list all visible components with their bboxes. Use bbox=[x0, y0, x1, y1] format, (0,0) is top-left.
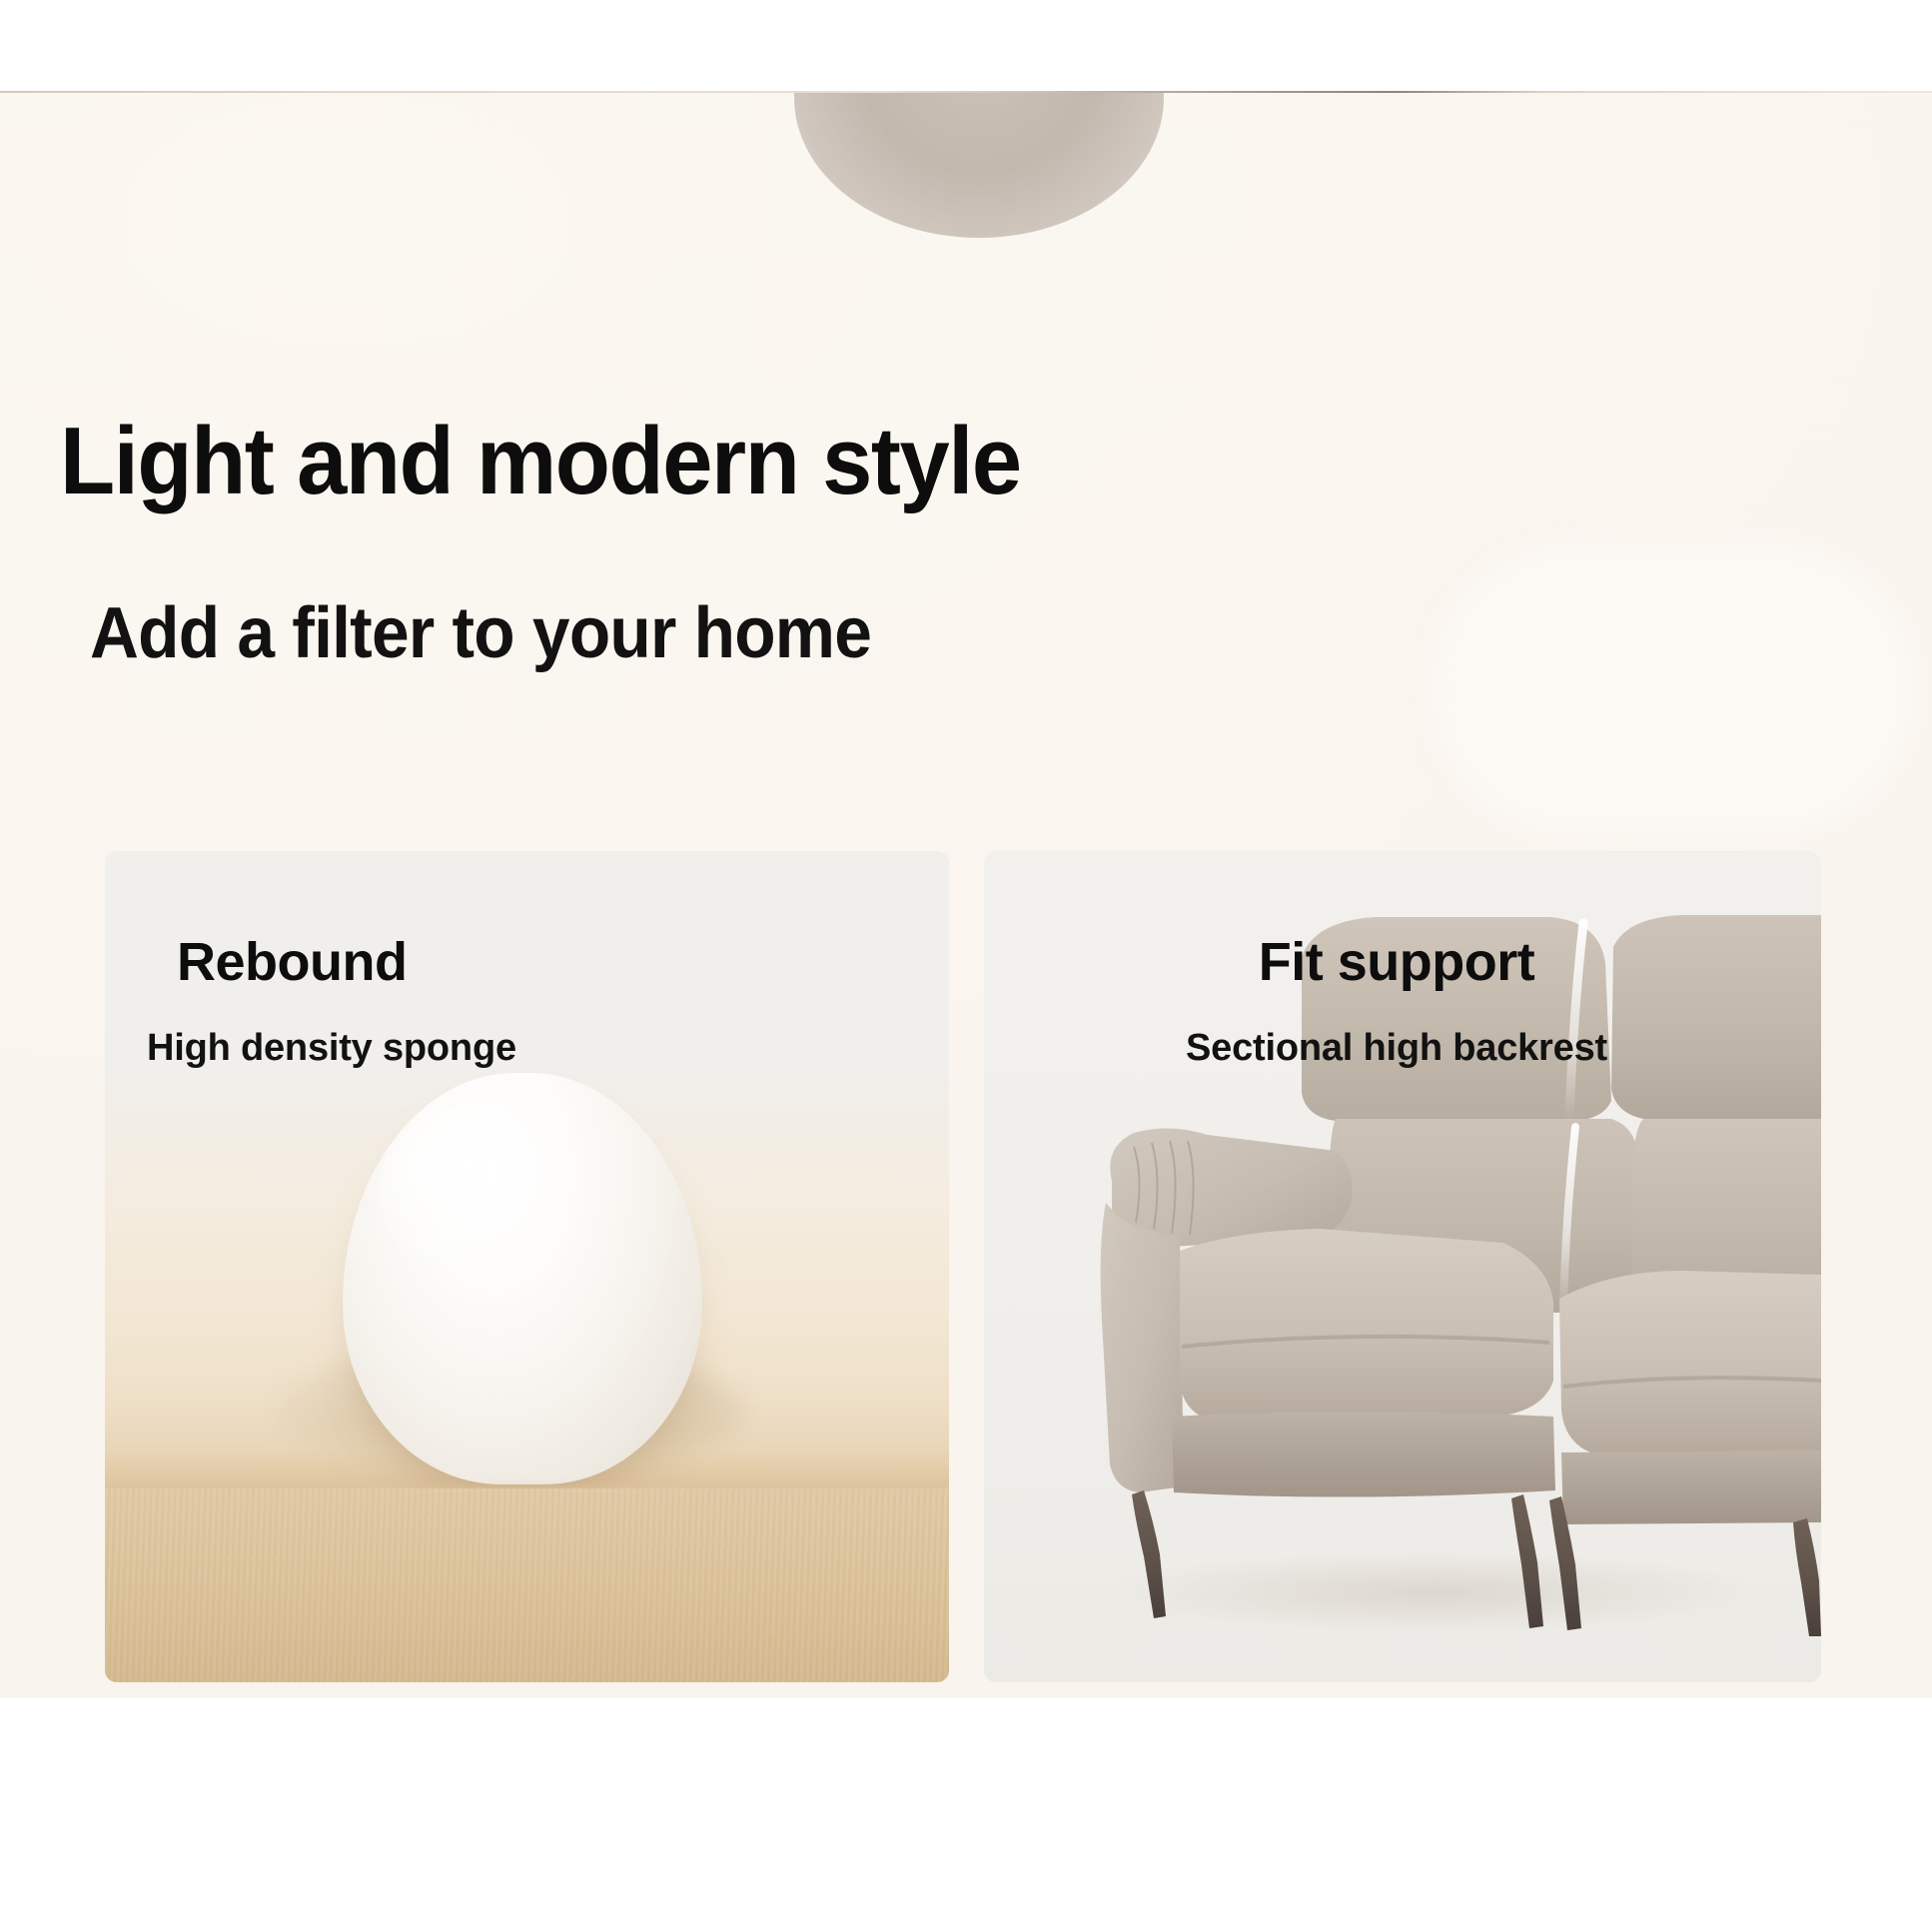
background-decorative-blob bbox=[1439, 547, 1908, 832]
badge-oval-backdrop bbox=[794, 93, 1164, 238]
product-detail-page: Light and modern style Add a filter to y… bbox=[0, 0, 1932, 1932]
bottom-white-strip bbox=[0, 1698, 1932, 1932]
card-title-rebound: Rebound bbox=[177, 935, 407, 989]
top-white-strip bbox=[0, 0, 1932, 93]
feature-card-fit-support[interactable]: Fit support Sectional high backrest bbox=[984, 851, 1821, 1682]
card-subtitle-fit-support: Sectional high backrest bbox=[984, 1029, 1821, 1067]
card-subtitle-rebound: High density sponge bbox=[147, 1029, 516, 1067]
top-sofa-badge bbox=[794, 93, 1164, 238]
page-subheadline: Add a filter to your home bbox=[90, 596, 871, 672]
feature-card-row: Rebound High density sponge bbox=[0, 851, 1932, 1682]
tan-foam-block bbox=[105, 1488, 949, 1682]
sofa-illustration-icon bbox=[889, 93, 1069, 110]
feature-card-rebound[interactable]: Rebound High density sponge bbox=[105, 851, 949, 1682]
card-title-fit-support: Fit support bbox=[984, 935, 1821, 989]
page-headline: Light and modern style bbox=[60, 412, 1021, 512]
